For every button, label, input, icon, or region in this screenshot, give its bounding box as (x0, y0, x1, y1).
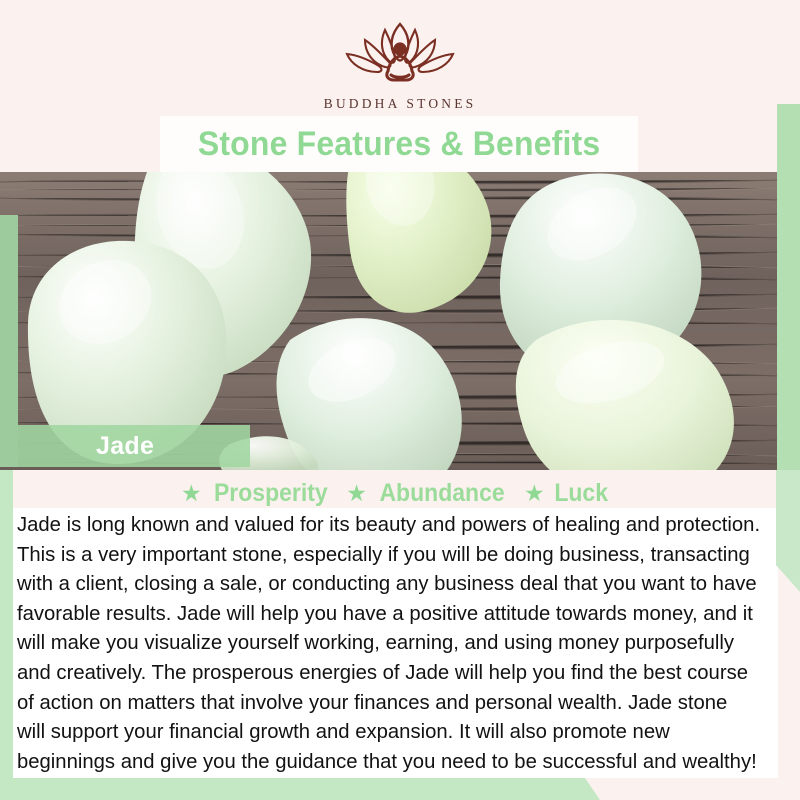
benefit-prosperity: ★ Prosperity (181, 479, 332, 508)
benefit-abundance: ★ Abundance (346, 479, 510, 508)
star-icon: ★ (524, 482, 545, 505)
stone-name: Jade (96, 432, 154, 461)
page-title-banner: Stone Features & Benefits (160, 116, 638, 172)
benefit-label: Prosperity (214, 479, 328, 508)
benefit-luck: ★ Luck (524, 479, 610, 508)
infographic-page: BUDDHA STONES Stone Features & Benefits (0, 0, 800, 800)
brand-name: BUDDHA STONES (324, 96, 477, 112)
page-title: Stone Features & Benefits (198, 125, 601, 164)
decor-bar-left-body (0, 470, 13, 778)
stone-photo: Jade (0, 172, 778, 470)
decor-bar-left-photo (0, 215, 18, 467)
decor-shape-bottom (0, 778, 600, 800)
decor-bar-right-top (777, 104, 800, 470)
benefits-row: ★ Prosperity ★ Abundance ★ Luck (13, 470, 778, 508)
stone-content: ★ Prosperity ★ Abundance ★ Luck Jade is … (13, 470, 778, 778)
star-icon: ★ (346, 482, 367, 505)
brand-logo: BUDDHA STONES (324, 18, 477, 112)
benefit-label: Abundance (379, 479, 504, 508)
decor-shape-right-body (776, 470, 800, 592)
lotus-meditation-icon (325, 18, 475, 90)
star-icon: ★ (181, 482, 202, 505)
stone-name-badge: Jade (18, 425, 250, 467)
stone-description: Jade is long known and valued for its be… (13, 508, 767, 776)
benefit-label: Luck (554, 479, 608, 508)
